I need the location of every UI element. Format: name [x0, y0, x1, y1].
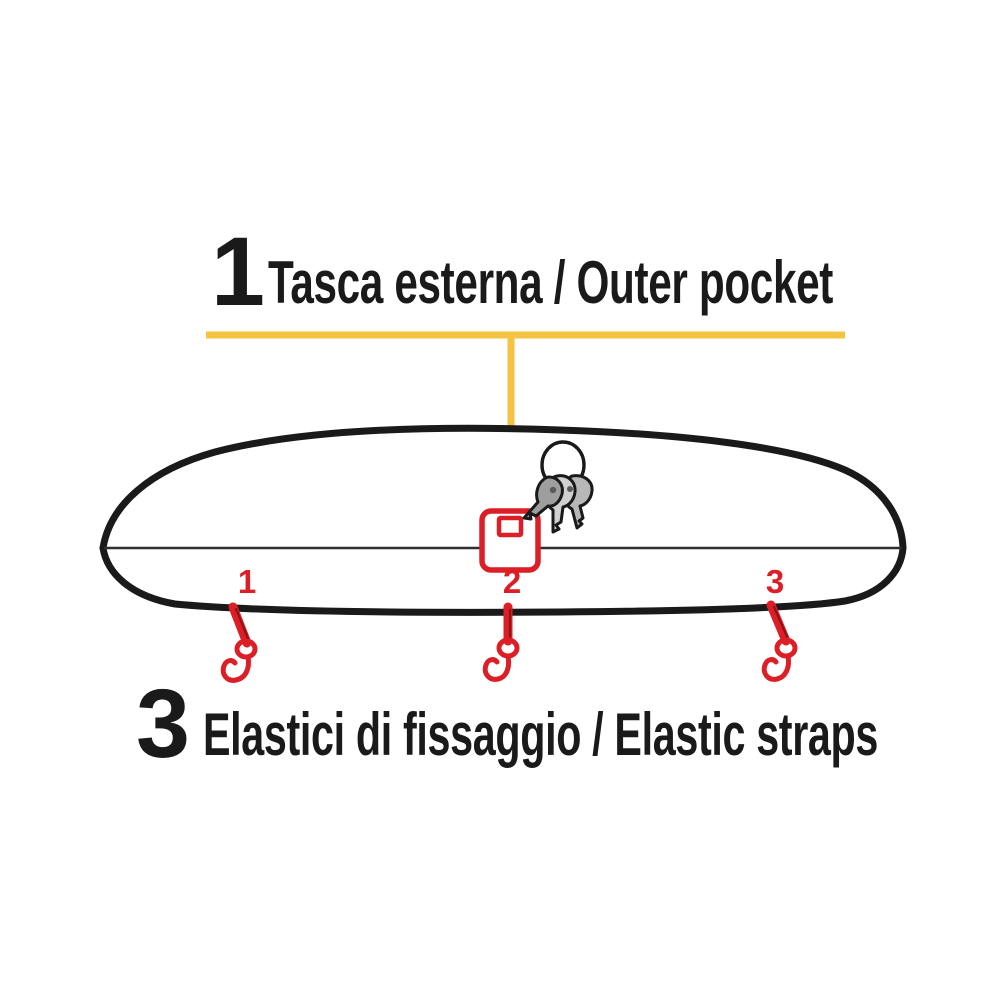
keyhole	[499, 518, 521, 535]
callout-top-label: Tasca esterna / Outer pocket	[268, 249, 833, 316]
strap-marker-2: 2	[503, 563, 521, 600]
strap-marker-1: 1	[238, 563, 256, 600]
key-bow-hole-2	[567, 486, 573, 492]
roof-box-diagram: 1 Tasca esterna / Outer pocket	[0, 0, 1000, 1000]
strap-hook-3	[764, 656, 788, 679]
strap-band-1	[233, 607, 247, 643]
callout-bottom: 3 Elastici di fissaggio / Elastic straps	[136, 669, 878, 778]
strap-marker-3: 3	[766, 563, 784, 600]
strap-hook-eye-1	[237, 641, 255, 657]
elastic-strap-1	[223, 607, 255, 680]
strap-hook-2	[485, 656, 508, 679]
strap-hook-eye-3	[777, 640, 795, 656]
strap-band-3	[771, 605, 786, 641]
diagram-canvas: 1 Tasca esterna / Outer pocket	[0, 0, 1000, 1000]
callout-bottom-number: 3	[136, 669, 188, 778]
callout-top-number: 1	[211, 217, 263, 326]
key-bow-hole-1	[550, 487, 556, 493]
elastic-strap-3	[764, 605, 795, 679]
elastic-strap-2	[485, 607, 517, 679]
strap-hook-1	[223, 657, 248, 680]
callout-bottom-label: Elastici di fissaggio / Elastic straps	[203, 701, 878, 768]
